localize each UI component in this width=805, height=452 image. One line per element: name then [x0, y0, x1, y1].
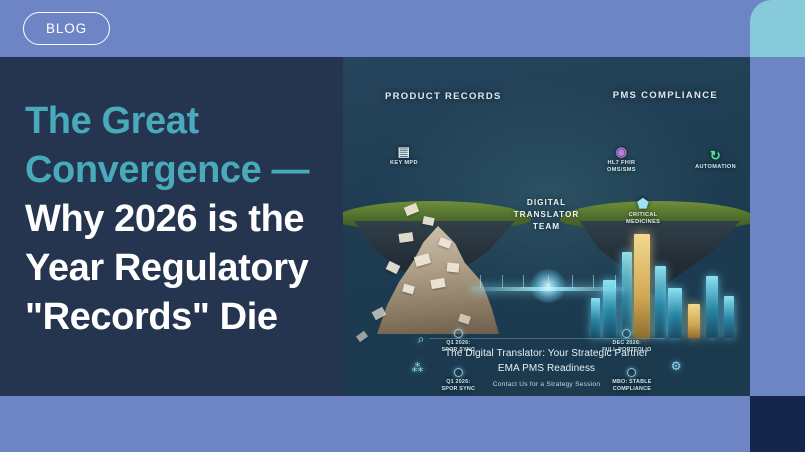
center-team-label: DIGITAL TRANSLATOR TEAM	[514, 197, 580, 233]
database-icon: ▤	[390, 145, 418, 158]
page-title-rest: Why 2026 is the Year Regulatory "Records…	[25, 198, 308, 338]
caption-divider	[429, 338, 665, 339]
chip-critical-medicines: ⬟ CRITICAL MEDICINES	[626, 197, 660, 227]
corner-decoration-navy	[750, 396, 805, 452]
data-tower	[706, 276, 718, 338]
caption-line-2: EMA PMS Readiness	[343, 361, 750, 376]
chip-critical-line2: MEDICINES	[626, 219, 660, 225]
data-tower-gold	[688, 304, 700, 338]
page-title-accent: The Great Convergence —	[25, 100, 309, 191]
illustration-label-left: PRODUCT RECORDS	[385, 91, 502, 102]
center-team-line3: TEAM	[514, 221, 580, 233]
refresh-icon: ↻	[695, 149, 736, 162]
chip-hl7-line1: HL7 FHIR	[607, 160, 635, 166]
chip-automation: ↻ AUTOMATION	[695, 149, 736, 171]
bridge-cable	[480, 275, 481, 288]
illustration-caption: The Digital Translator: Your Strategic P…	[343, 338, 750, 388]
data-tower-gold	[634, 234, 650, 338]
bridge-cable	[502, 275, 503, 288]
blog-post-card: The Great Convergence — Why 2026 is the …	[0, 57, 750, 396]
illustration-label-right: PMS COMPLIANCE	[613, 90, 718, 101]
center-team-line1: DIGITAL	[514, 197, 580, 209]
caption-cta: Contact Us for a Strategy Session	[343, 381, 750, 388]
chip-key-mpd-label: KEY MPD	[390, 160, 418, 166]
data-tower	[724, 296, 734, 338]
bridge-cable	[523, 275, 524, 288]
post-text-column: The Great Convergence — Why 2026 is the …	[0, 57, 343, 396]
caption-main: The Digital Translator: Your Strategic P…	[343, 346, 750, 376]
chip-key-mpd: ▤ KEY MPD	[390, 145, 418, 167]
badge-row: BLOG	[0, 0, 805, 57]
page-title: The Great Convergence — Why 2026 is the …	[25, 97, 315, 342]
blog-badge[interactable]: BLOG	[23, 12, 110, 45]
post-illustration: PRODUCT RECORDS PMS COMPLIANCE	[343, 57, 750, 396]
center-team-line2: TRANSLATOR	[514, 209, 580, 221]
milestone-dot-icon	[454, 329, 463, 338]
connecting-bridge	[471, 275, 624, 305]
caption-line-1: The Digital Translator: Your Strategic P…	[343, 346, 750, 361]
paper-sheet	[447, 262, 460, 272]
bridge-cable	[615, 275, 616, 288]
data-tower	[668, 288, 682, 338]
chip-critical-line1: CRITICAL	[629, 212, 658, 218]
chip-automation-label: AUTOMATION	[695, 164, 736, 170]
paper-sheet	[398, 232, 413, 243]
sync-circle-icon: ◉	[607, 145, 636, 158]
bridge-core-glow	[530, 269, 566, 303]
shield-icon: ⬟	[626, 197, 660, 210]
chip-hl7-fhir: ◉ HL7 FHIR OMS/SMS	[607, 145, 636, 175]
chip-hl7-line2: OMS/SMS	[607, 167, 636, 173]
milestone-dot-icon	[622, 329, 631, 338]
data-tower	[655, 266, 666, 338]
bridge-cable	[593, 275, 594, 288]
bridge-cable	[572, 275, 573, 288]
